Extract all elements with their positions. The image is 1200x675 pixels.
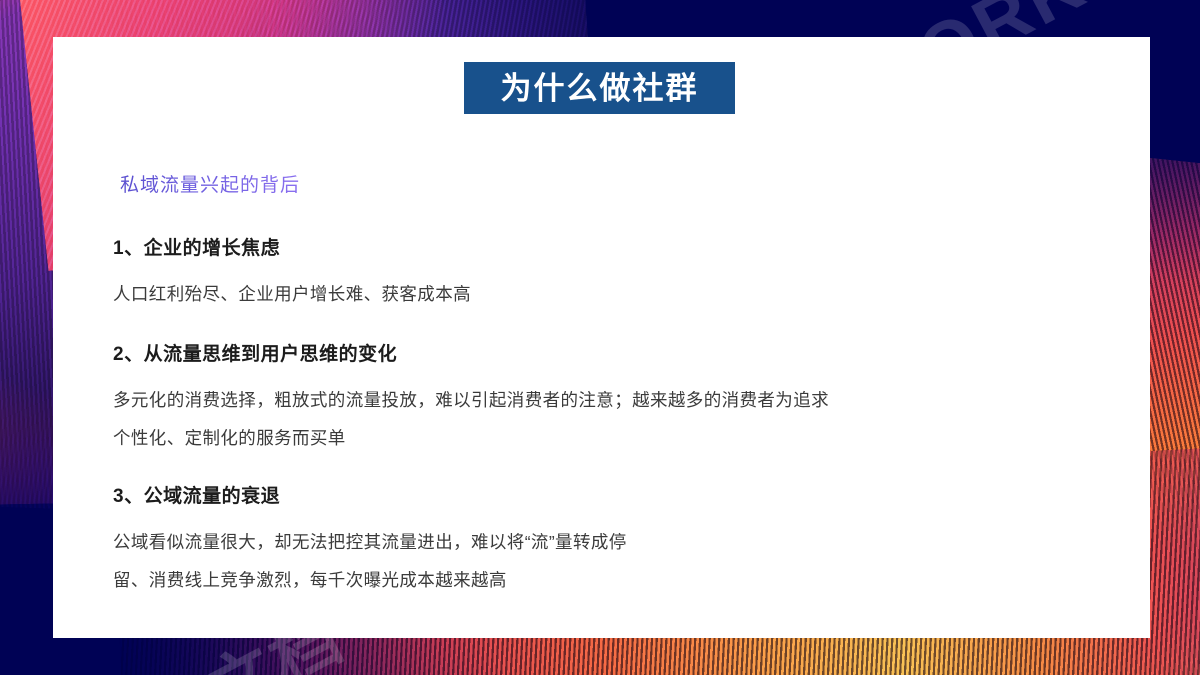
section-body-line: 个性化、定制化的服务而买单 [113, 419, 1110, 457]
slide-title-banner: 为什么做社群 [464, 62, 735, 114]
section-body-line: 人口红利殆尽、企业用户增长难、获客成本高 [113, 275, 1110, 313]
section-item: 2、从流量思维到用户思维的变化 多元化的消费选择，粗放式的流量投放，难以引起消费… [113, 339, 1110, 457]
section-heading: 1、企业的增长焦虑 [113, 233, 1110, 260]
section-body: 人口红利殆尽、企业用户增长难、获客成本高 [113, 275, 1110, 313]
section-body-line: 多元化的消费选择，粗放式的流量投放，难以引起消费者的注意；越来越多的消费者为追求 [113, 381, 1110, 419]
section-heading: 2、从流量思维到用户思维的变化 [113, 339, 1110, 366]
slide-title: 为什么做社群 [501, 73, 699, 104]
section-item: 1、企业的增长焦虑 人口红利殆尽、企业用户增长难、获客成本高 [113, 233, 1110, 313]
sections-list: 1、企业的增长焦虑 人口红利殆尽、企业用户增长难、获客成本高 2、从流量思维到用… [113, 233, 1110, 603]
section-body-line: 公域看似流量很大，却无法把控其流量进出，难以将“流”量转成停 [113, 523, 1110, 561]
section-item: 3、公域流量的衰退 公域看似流量很大，却无法把控其流量进出，难以将“流”量转成停… [113, 481, 1110, 599]
slide-subtitle: 私域流量兴起的背后 [120, 170, 300, 197]
section-heading: 3、公域流量的衰退 [113, 481, 1110, 508]
content-card: 为什么做社群 私域流量兴起的背后 1、企业的增长焦虑 人口红利殆尽、企业用户增长… [53, 37, 1150, 638]
section-body-line: 留、消费线上竞争激烈，每千次曝光成本越来越高 [113, 561, 1110, 599]
section-body: 多元化的消费选择，粗放式的流量投放，难以引起消费者的注意；越来越多的消费者为追求… [113, 381, 1110, 457]
slide-canvas: ORK 文档 为什么做社群 私域流量兴起的背后 1、企业的增长焦虑 人口红利殆尽… [0, 0, 1200, 675]
section-body: 公域看似流量很大，却无法把控其流量进出，难以将“流”量转成停 留、消费线上竞争激… [113, 523, 1110, 599]
